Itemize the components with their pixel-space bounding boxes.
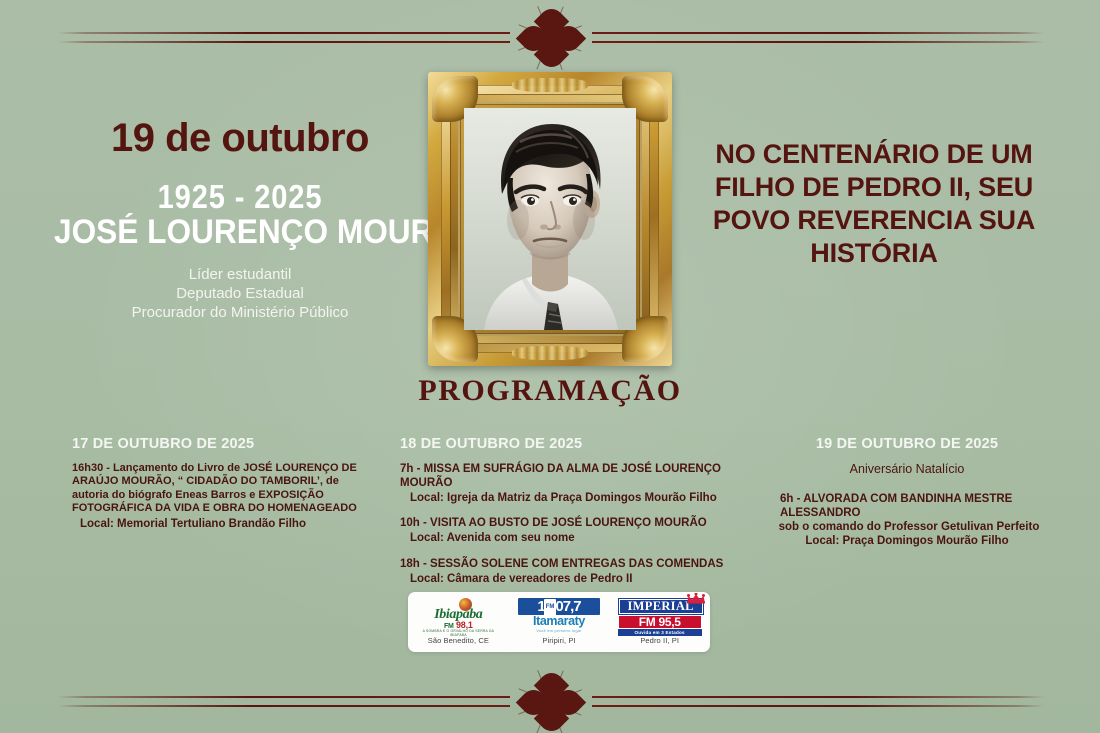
event-title: 7h - MISSA EM SUFRÁGIO DA ALMA DE JOSÉ L… — [400, 462, 730, 490]
poster-canvas: 19 de outubro 1925 - 2025 JOSÉ LOURENÇO … — [0, 0, 1100, 733]
hero-roles: Líder estudantil Deputado Estadual Procu… — [40, 265, 440, 323]
program-event: 10h - VISITA AO BUSTO DE JOSÉ LOURENÇO M… — [400, 516, 730, 545]
column-date-header: 19 DE OUTUBRO DE 2025 — [762, 436, 1052, 452]
hero-date: 19 de outubro — [40, 118, 440, 158]
column-date-header: 17 DE OUTUBRO DE 2025 — [72, 436, 372, 452]
program-column-17-oct: 17 DE OUTUBRO DE 2025 16h30 - Lançamento… — [72, 436, 372, 542]
sponsor-city: Pedro II, PI — [640, 636, 679, 645]
ibiapaba-logo-icon: Ibiapaba FM 98,1 A SOMBRA E O ORVALHO DA… — [415, 599, 501, 633]
sponsor-frequency: 1FM07,7 — [518, 598, 600, 615]
event-subtitle: sob o comando do Professor Getulivan Per… — [766, 521, 1052, 533]
sponsor-city: Piripiri, PI — [542, 636, 575, 645]
crown-icon — [686, 593, 706, 604]
hero-years: 1925 - 2025 — [64, 180, 416, 213]
event-title: 6h - ALVORADA COM BANDINHA MESTRE ALESSA… — [780, 492, 1052, 520]
imperial-logo-icon: IMPERIAL FM 95,5 Ouvida em 3 Estados — [618, 599, 702, 633]
headline-block: NO CENTENÁRIO DE UM FILHO DE PEDRO II, S… — [700, 138, 1048, 270]
top-ornament-band — [0, 8, 1100, 68]
bottom-rule-right — [592, 696, 1044, 700]
program-title: PROGRAMAÇÃO — [0, 374, 1100, 408]
program-column-19-oct: 19 DE OUTUBRO DE 2025 Aniversário Natalí… — [762, 436, 1052, 559]
headline-line-2: POVO REVERENCIA SUA — [700, 204, 1048, 237]
hero-name: JOSÉ LOURENÇO MOURÃO — [54, 215, 426, 251]
event-location: Local: Avenida com seu nome — [410, 531, 730, 545]
hero-left-block: 19 de outubro 1925 - 2025 JOSÉ LOURENÇO … — [40, 118, 440, 322]
program-event: 16h30 - Lançamento do Livro de JOSÉ LOUR… — [72, 462, 372, 531]
hero-role-1: Deputado Estadual — [40, 284, 440, 303]
itamaraty-freq-text: 1FM07,7 — [537, 598, 580, 615]
diamond-cross-ornament-icon — [516, 8, 586, 68]
event-title: 18h - SESSÃO SOLENE COM ENTREGAS DAS COM… — [400, 557, 730, 571]
program-event: 7h - MISSA EM SUFRÁGIO DA ALMA DE JOSÉ L… — [400, 462, 730, 505]
itamaraty-logo-icon: 1FM07,7 Itamaraty Você em primeiro lugar — [518, 599, 600, 633]
bottom-ornament-band — [0, 672, 1100, 732]
program-event: 18h - SESSÃO SOLENE COM ENTREGAS DAS COM… — [400, 557, 730, 586]
event-location: Local: Praça Domingos Mourão Filho — [762, 534, 1052, 548]
sponsor-city: São Benedito, CE — [428, 636, 489, 645]
hero-role-0: Líder estudantil — [40, 265, 440, 284]
frame-edge-ornament-icon — [512, 78, 588, 92]
sponsor-itamaraty: 1FM07,7 Itamaraty Você em primeiro lugar… — [509, 592, 610, 652]
hero-role-2: Procurador do Ministério Público — [40, 303, 440, 322]
sponsor-tagline: Ouvida em 3 Estados — [618, 629, 702, 636]
sponsor-frequency: FM 95,5 — [618, 615, 702, 629]
bottom-rule-left — [58, 696, 510, 700]
headline-line-3: HISTÓRIA — [700, 237, 1048, 270]
column-date-header: 18 DE OUTUBRO DE 2025 — [400, 436, 730, 452]
sponsor-name: Itamaraty — [518, 614, 600, 628]
program-columns: 17 DE OUTUBRO DE 2025 16h30 - Lançamento… — [0, 436, 1100, 576]
sponsor-tagline: Você em primeiro lugar — [518, 628, 600, 633]
program-event: 6h - ALVORADA COM BANDINHA MESTRE ALESSA… — [762, 492, 1052, 548]
top-rule-right — [592, 32, 1044, 36]
portrait-photo — [464, 108, 636, 330]
diamond-cross-ornament-icon — [516, 672, 586, 732]
column-subtitle: Aniversário Natalício — [762, 462, 1052, 476]
sponsor-tagline: A SOMBRA E O ORVALHO DA SERRA DA IBIAPAB… — [415, 629, 501, 637]
sponsor-bar: Ibiapaba FM 98,1 A SOMBRA E O ORVALHO DA… — [408, 592, 710, 652]
event-location: Local: Igreja da Matriz da Praça Domingo… — [410, 491, 730, 505]
event-title: 16h30 - Lançamento do Livro de JOSÉ LOUR… — [72, 462, 372, 516]
headline-line-0: NO CENTENÁRIO DE UM — [700, 138, 1048, 171]
top-rule-left — [58, 32, 510, 36]
sponsor-imperial: IMPERIAL FM 95,5 Ouvida em 3 Estados Ped… — [609, 592, 710, 652]
headline-line-1: FILHO DE PEDRO II, SEU — [700, 171, 1048, 204]
event-title: 10h - VISITA AO BUSTO DE JOSÉ LOURENÇO M… — [400, 516, 730, 530]
frame-edge-ornament-icon — [512, 346, 588, 360]
portrait-frame — [428, 72, 672, 366]
event-location: Local: Câmara de vereadores de Pedro II — [410, 572, 730, 586]
program-column-18-oct: 18 DE OUTUBRO DE 2025 7h - MISSA EM SUFR… — [400, 436, 730, 597]
event-location: Local: Memorial Tertuliano Brandão Filho — [80, 517, 372, 531]
sponsor-ibiapaba: Ibiapaba FM 98,1 A SOMBRA E O ORVALHO DA… — [408, 592, 509, 652]
